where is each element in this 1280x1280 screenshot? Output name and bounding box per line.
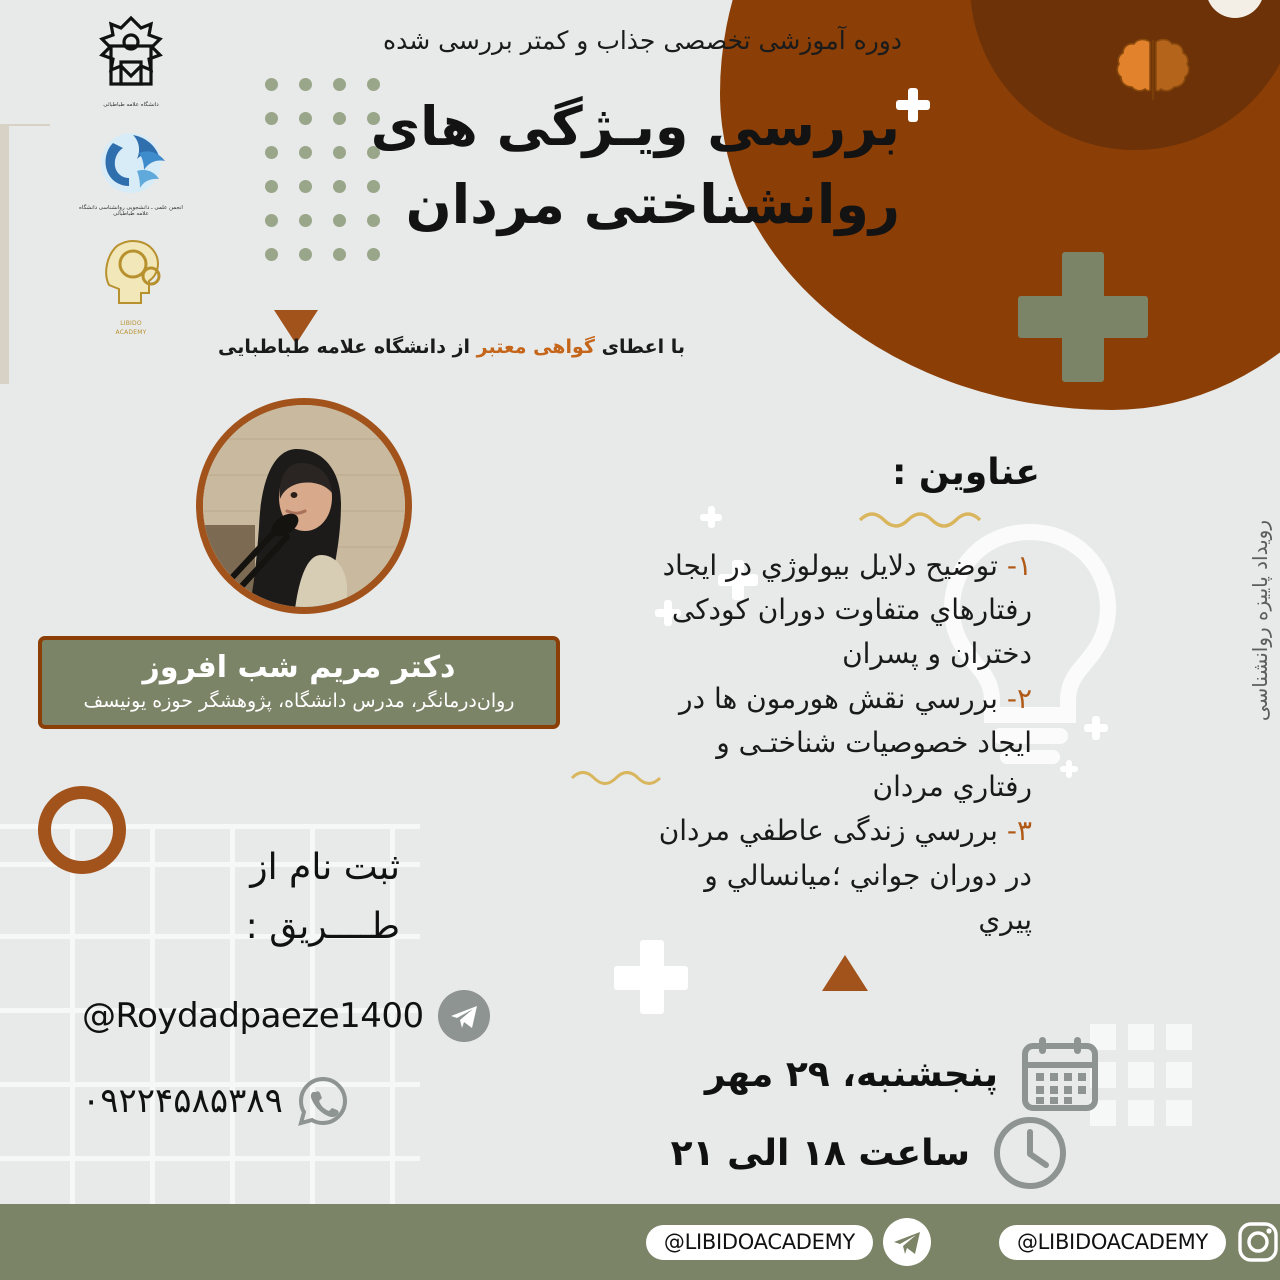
speaker-photo (196, 398, 412, 614)
instagram-footer-item[interactable]: @LIBIDOACADEMY (999, 1220, 1280, 1264)
telegram-footer-item[interactable]: @LIBIDOACADEMY (646, 1218, 931, 1266)
side-vertical-text: رویداد پاییزه روانشناسی (1248, 520, 1272, 721)
topics-heading: عناوین : (892, 452, 1040, 493)
plus-shape-white-e (1084, 716, 1108, 740)
certificate-note: با اعطای گواهی معتبر از دانشگاه علامه طب… (218, 336, 685, 358)
topic-text: بررسي نقش هورمون ها در ایجاد خصوصیات شنا… (679, 682, 1032, 803)
whatsapp-number[interactable]: ۰۹۲۲۴۵۸۵۳۸۹ (82, 1081, 283, 1121)
title-line-2: روانشناختی مردان (371, 166, 900, 244)
dot-grid-decoration (244, 78, 380, 282)
topic-text: توضیح دلایل بیولوژي در ایجاد رفتارهاي مت… (663, 549, 1032, 670)
topic-item: ۳- بررسي زندگی عاطفي مردان در دوران جوان… (642, 809, 1032, 942)
footer-bar: @LIBIDOACADEMY @LIBIDOACADEMY (0, 1204, 1280, 1280)
telegram-contact[interactable]: @Roydadpaeze1400 (82, 990, 490, 1042)
topic-text: بررسي زندگی عاطفي مردان در دوران جواني ؛… (659, 814, 1032, 935)
logo-libido-academy: LIBIDO ACADEMY (72, 232, 190, 336)
certificate-prefix: با اعطای (595, 336, 685, 358)
poster-root: دانشگاه علامه طباطبائی انجمن علمی ـ دانش… (0, 0, 1280, 1280)
telegram-handle[interactable]: @Roydadpaeze1400 (82, 996, 424, 1036)
left-edge-line-horizontal (0, 124, 50, 126)
university-crest-icon (83, 12, 179, 96)
topic-number: ۱- (1007, 549, 1032, 582)
telegram-footer-handle[interactable]: @LIBIDOACADEMY (646, 1225, 873, 1260)
plus-shape-white-a (896, 88, 930, 122)
event-time-text: ساعت ۱۸ الی ۲۱ (671, 1133, 970, 1174)
logo-caption-libido: LIBIDO (72, 320, 190, 327)
instagram-handle[interactable]: @LIBIDOACADEMY (999, 1225, 1226, 1260)
speaker-info-box: دکتر مریم شب افروز روان‌درمانگر، مدرس دا… (38, 636, 560, 729)
clock-icon (992, 1115, 1068, 1191)
registration-heading: ثبت نام از طــــریق : (246, 838, 400, 957)
kicker-text: دوره آموزشی تخصصی جذاب و کمتر بررسی شده (383, 26, 902, 55)
plus-shape-green (1018, 252, 1148, 382)
whatsapp-icon[interactable] (297, 1075, 349, 1127)
event-time-row: ساعت ۱۸ الی ۲۱ (671, 1115, 1068, 1191)
logo-scientific-association: انجمن علمی ـ دانشجویی روانشناسی دانشگاه … (72, 123, 190, 218)
speaker-name: دکتر مریم شب افروز (56, 649, 542, 687)
ring-circle-shape (38, 786, 126, 874)
logo-caption-association: انجمن علمی ـ دانشجویی روانشناسی دانشگاه … (72, 205, 190, 218)
triangle-up-icon (822, 955, 868, 991)
speaker-role: روان‌درمانگر، مدرس دانشگاه، پژوهشگر حوزه… (56, 689, 542, 714)
head-gears-icon (83, 232, 179, 314)
title-line-1: بررسی ویـژگی های (371, 88, 900, 166)
logo-column: دانشگاه علامه طباطبائی انجمن علمی ـ دانش… (72, 12, 190, 350)
logo-caption-university: دانشگاه علامه طباطبائی (72, 102, 190, 109)
whatsapp-contact[interactable]: ۰۹۲۲۴۵۸۵۳۸۹ (82, 1075, 349, 1127)
instagram-icon[interactable] (1236, 1220, 1280, 1264)
certificate-highlight: گواهی معتبر (477, 336, 595, 358)
registration-heading-line-2: طــــریق : (246, 897, 400, 956)
plus-shape-white-f (1060, 760, 1078, 778)
topic-number: ۳- (1007, 814, 1032, 847)
telegram-icon[interactable] (438, 990, 490, 1042)
brain-icon (1114, 36, 1192, 108)
topic-item: ۲- بررسي نقش هورمون ها در ایجاد خصوصیات … (642, 677, 1032, 810)
calendar-icon (1020, 1035, 1100, 1113)
squiggle-divider-secondary-icon (570, 768, 680, 790)
logo-allameh-tabatabai: دانشگاه علامه طباطبائی (72, 12, 190, 109)
telegram-footer-icon[interactable] (883, 1218, 931, 1266)
event-date-row: پنجشنبه، ۲۹ مهر (705, 1035, 1100, 1113)
plus-shape-white-d (700, 506, 722, 528)
plus-shape-white-large (614, 940, 688, 1014)
face-wave-icon (83, 123, 179, 199)
event-date-text: پنجشنبه، ۲۹ مهر (705, 1054, 998, 1095)
topic-number: ۲- (1007, 682, 1032, 715)
page-title: بررسی ویـژگی های روانشناختی مردان (371, 88, 900, 245)
topic-item: ۱- توضیح دلایل بیولوژي در ایجاد رفتارهاي… (642, 544, 1032, 677)
left-edge-line (0, 124, 9, 384)
logo-caption-academy: ACADEMY (72, 329, 190, 336)
topics-list: ۱- توضیح دلایل بیولوژي در ایجاد رفتارهاي… (642, 544, 1032, 942)
registration-heading-line-1: ثبت نام از (246, 838, 400, 897)
certificate-suffix: از دانشگاه علامه طباطبایی (218, 336, 477, 358)
squiggle-divider-icon (858, 508, 1008, 532)
